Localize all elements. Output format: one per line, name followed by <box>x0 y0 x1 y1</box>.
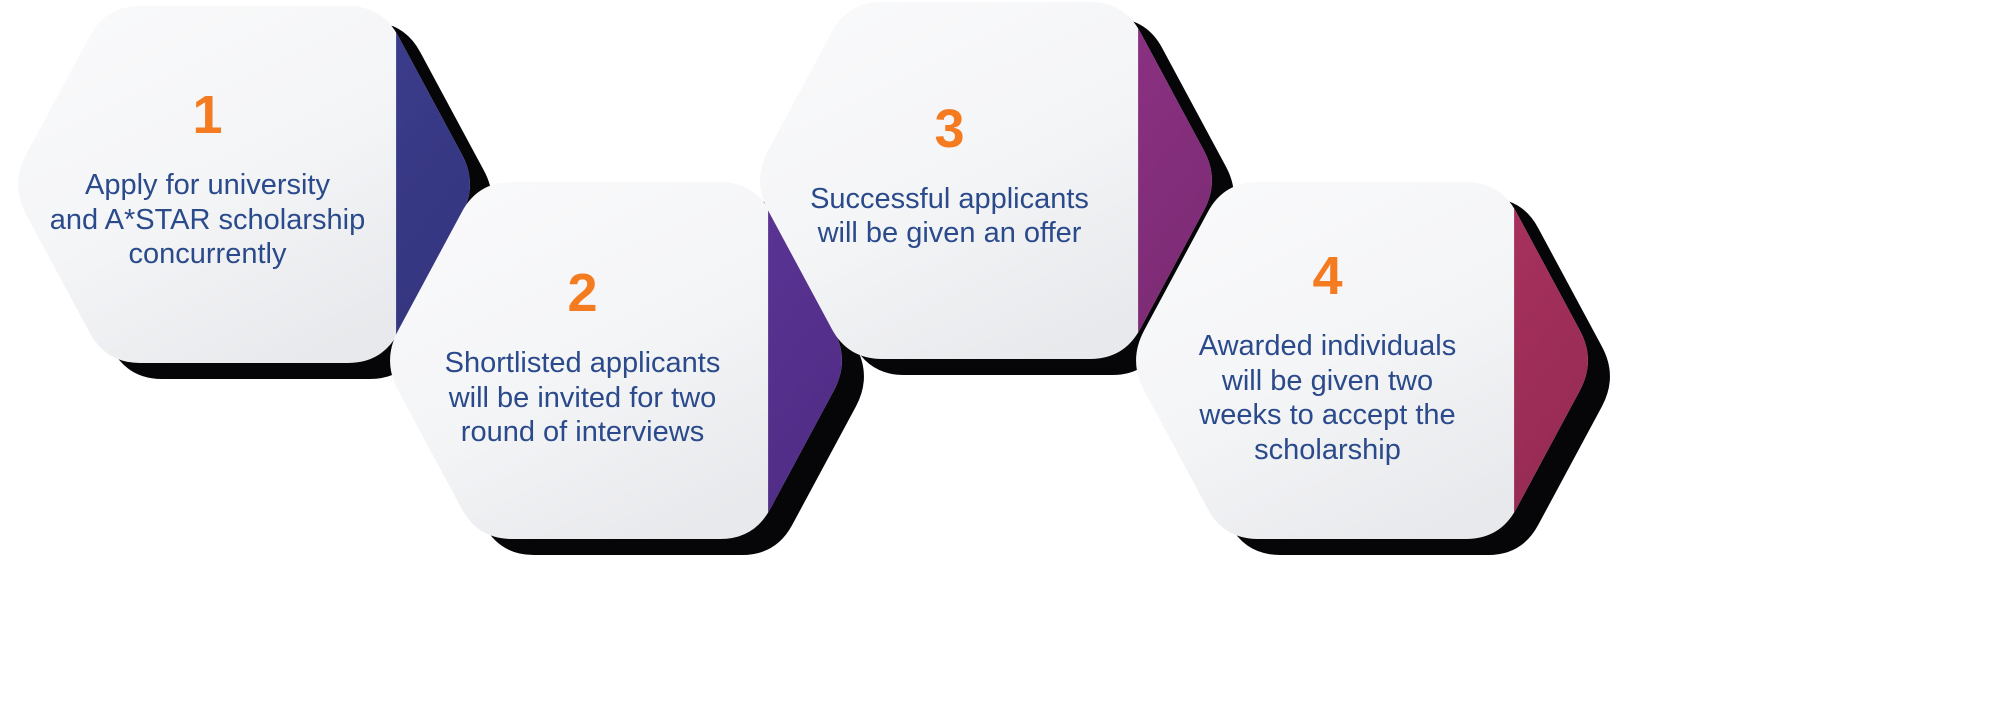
process-step-4 <box>1128 182 1596 539</box>
hexagon-process-diagram: 1Apply for university and A*STAR scholar… <box>0 0 2000 707</box>
hexagon-body <box>1136 182 1596 539</box>
